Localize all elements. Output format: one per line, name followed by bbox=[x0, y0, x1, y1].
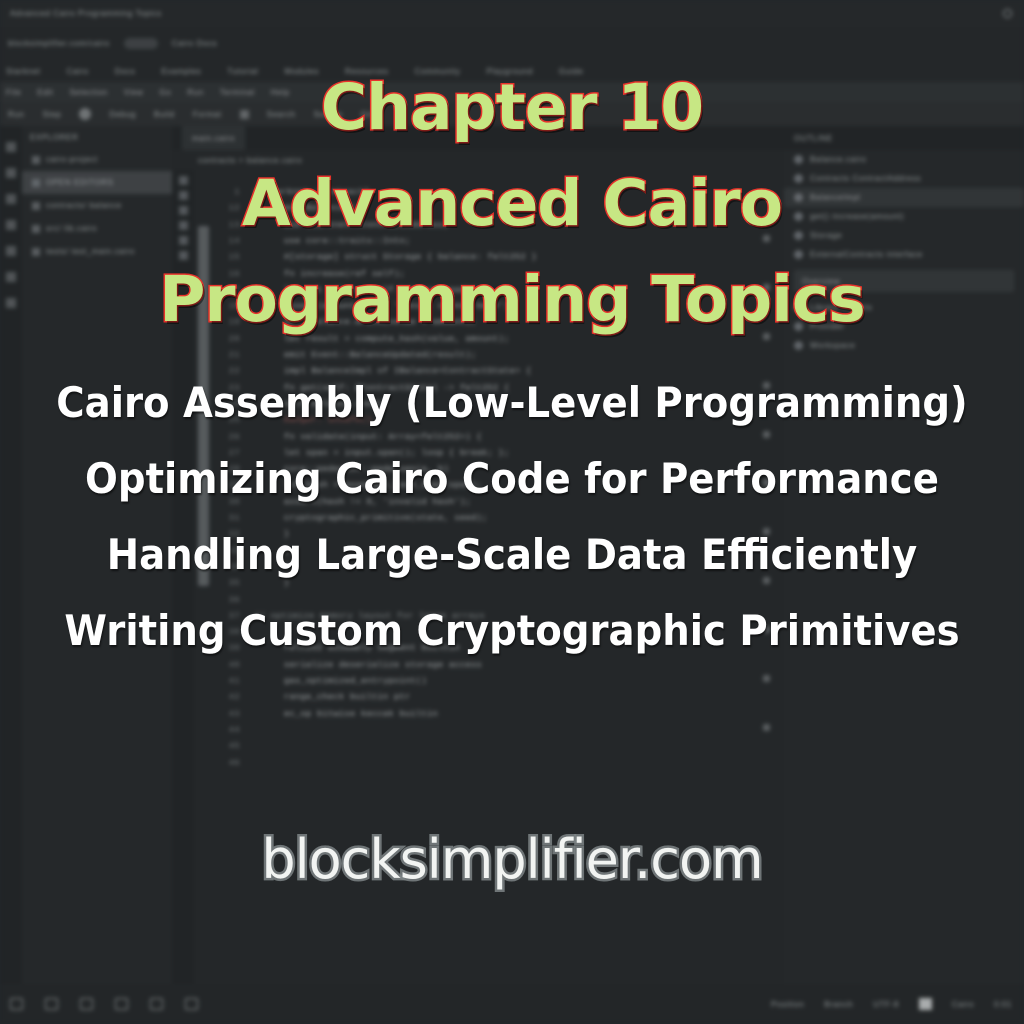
headline-line-2: Advanced Cairo bbox=[0, 172, 1024, 235]
headline-line-1: Chapter 10 bbox=[0, 76, 1024, 139]
promo-overlay: Chapter 10 Advanced Cairo Programming To… bbox=[0, 0, 1024, 1024]
site-watermark: blocksimplifier.com bbox=[0, 828, 1024, 891]
headline-line-3: Programming Topics bbox=[0, 268, 1024, 331]
topic-item-3: Handling Large-Scale Data Efficiently bbox=[41, 534, 983, 576]
topic-item-2: Optimizing Cairo Code for Performance bbox=[41, 458, 983, 500]
topic-item-1: Cairo Assembly (Low-Level Programming) bbox=[41, 382, 983, 424]
topic-item-4: Writing Custom Cryptographic Primitives bbox=[41, 610, 983, 652]
